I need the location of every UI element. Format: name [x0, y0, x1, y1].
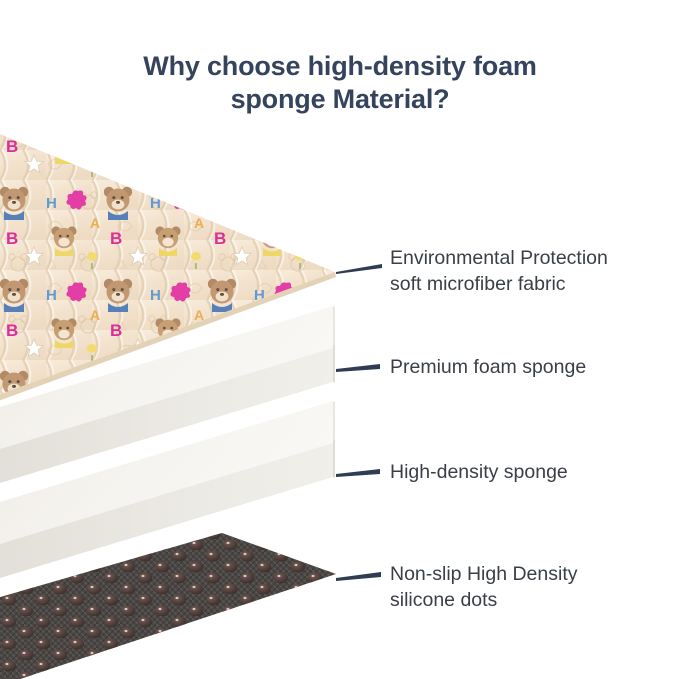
callout-label-silicone: Non-slip High Density silicone dots — [390, 562, 578, 613]
callout-label-high-density-foam: High-density sponge — [390, 460, 568, 486]
callout-fabric-line-1: Environmental Protection — [390, 246, 608, 272]
callout-label-fabric: Environmental Protection soft microfiber… — [390, 246, 608, 297]
callout-premium-foam-line-1: Premium foam sponge — [390, 355, 586, 381]
leader-line-high-density-foam — [336, 469, 380, 477]
leader-lines — [336, 264, 382, 581]
infographic-page: Why choose high-density foam sponge Mate… — [0, 0, 679, 679]
callout-silicone-line-2: silicone dots — [390, 588, 578, 614]
callout-high-density-line-1: High-density sponge — [390, 460, 568, 486]
callout-label-premium-foam: Premium foam sponge — [390, 355, 586, 381]
leader-line-silicone — [336, 572, 381, 581]
callout-fabric-line-2: soft microfiber fabric — [390, 272, 608, 298]
callout-silicone-line-1: Non-slip High Density — [390, 562, 578, 588]
leader-line-premium-foam — [336, 364, 380, 372]
leader-line-fabric — [336, 264, 382, 274]
